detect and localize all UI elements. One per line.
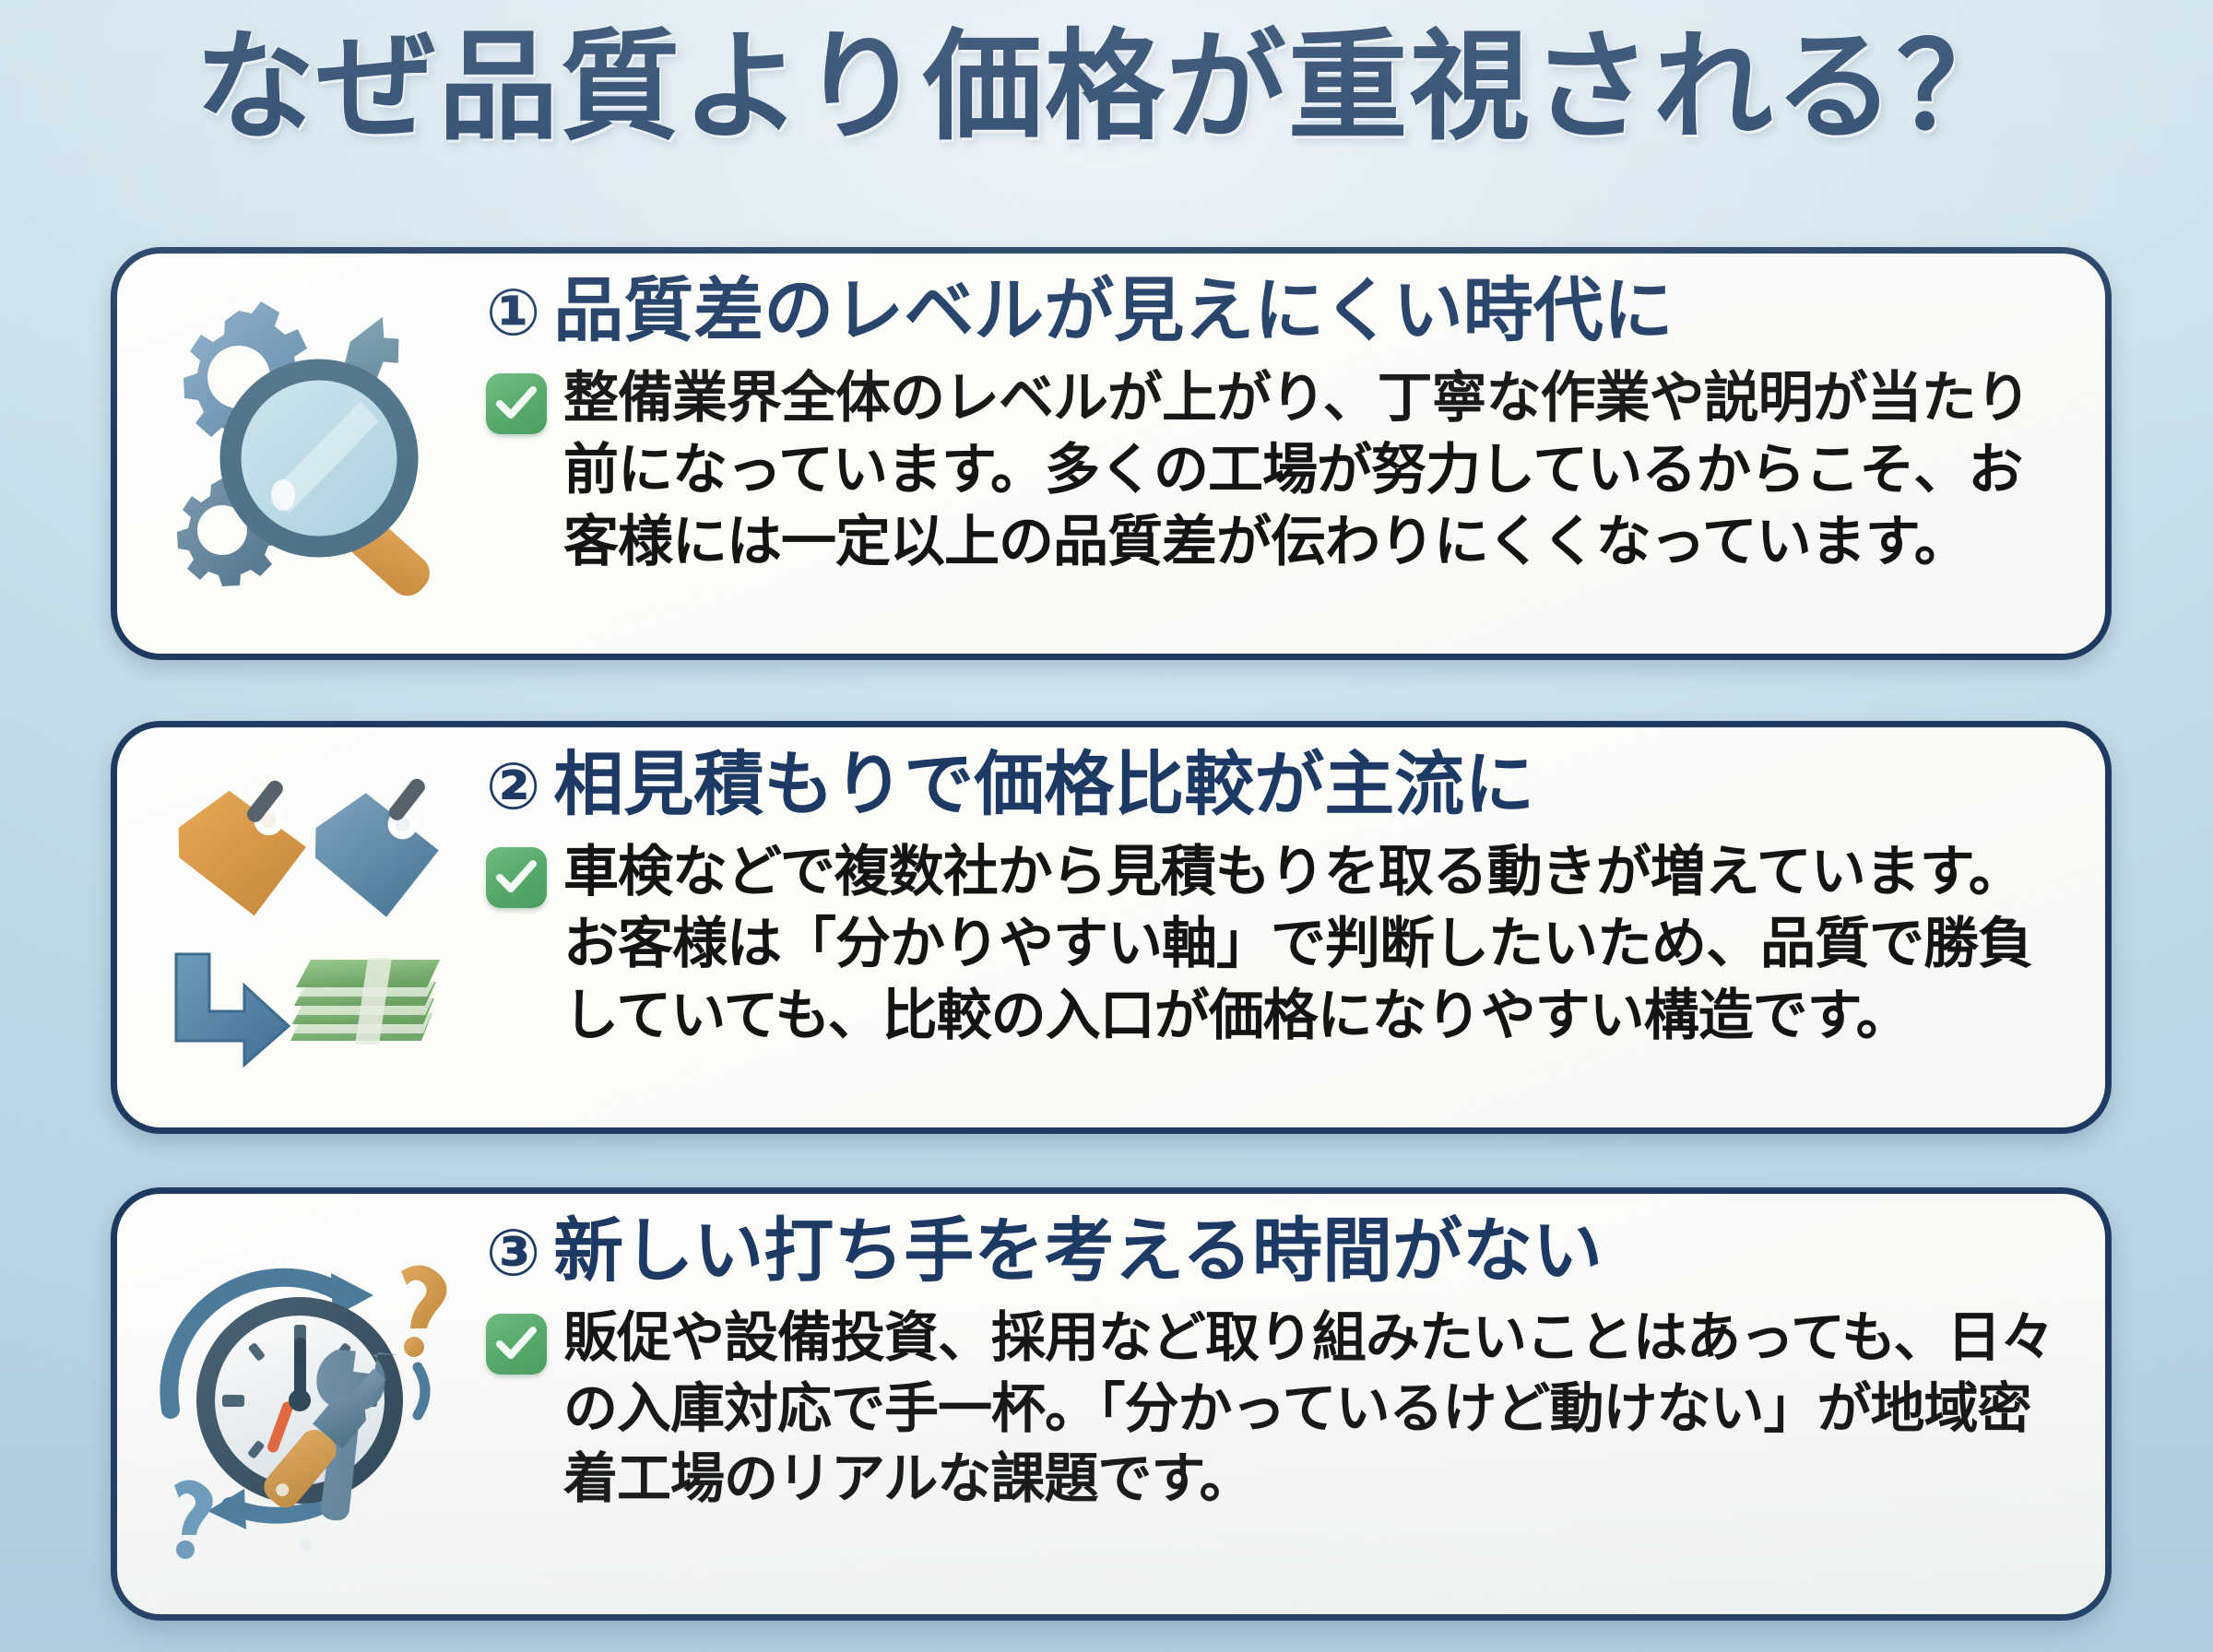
card-1-number: ① xyxy=(486,278,540,348)
reason-card-3: ③ 新しい打ち手を考える時間がない 販促や設備投資、採用など取り組みたいことはあ… xyxy=(111,1187,2112,1621)
card-1-text-row: 整備業界全体のレベルが上がり、丁寧な作業や説明が当たり前になっています。多くの工… xyxy=(486,362,2074,578)
card-3-heading: ③ 新しい打ち手を考える時間がない xyxy=(486,1214,2074,1290)
card-1-heading: ① 品質差のレベルが見えにくい時代に xyxy=(486,274,2074,349)
card-3-text-row: 販促や設備投資、採用など取り組みたいことはあっても、日々の入庫対応で手一杯。「分… xyxy=(486,1303,2074,1515)
card-1-heading-text: 品質差のレベルが見えにくい時代に xyxy=(553,274,1673,349)
clock-question-tools-icon xyxy=(141,1229,473,1561)
check-icon xyxy=(486,373,547,434)
infographic-slide: なぜ品質より価格が重視される？ xyxy=(0,0,2213,1652)
check-icon xyxy=(486,1314,547,1375)
card-2-text: 車検などで複数社から見積もりを取る動きが増えています。お客様は「分かりやすい軸」… xyxy=(563,836,2074,1052)
price-tags-cash-icon xyxy=(148,764,462,1078)
card-1-icon-area xyxy=(117,254,486,654)
reason-card-2: ② 相見積もりで価格比較が主流に 車検などで複数社から見積もりを取る動きが増えて… xyxy=(111,721,2112,1134)
check-glyph xyxy=(496,858,537,897)
card-2-text-row: 車検などで複数社から見積もりを取る動きが増えています。お客様は「分かりやすい軸」… xyxy=(486,836,2074,1052)
card-1-body: ① 品質差のレベルが見えにくい時代に 整備業界全体のレベルが上がり、丁寧な作業や… xyxy=(486,254,2105,578)
check-glyph xyxy=(496,384,537,423)
check-icon xyxy=(486,847,547,908)
card-3-heading-text: 新しい打ち手を考える時間がない xyxy=(553,1214,1603,1290)
reason-card-1: ① 品質差のレベルが見えにくい時代に 整備業界全体のレベルが上がり、丁寧な作業や… xyxy=(111,247,2112,660)
card-2-icon-area xyxy=(117,727,486,1127)
card-3-body: ③ 新しい打ち手を考える時間がない 販促や設備投資、採用など取り組みたいことはあ… xyxy=(486,1194,2105,1515)
card-2-body: ② 相見積もりで価格比較が主流に 車検などで複数社から見積もりを取る動きが増えて… xyxy=(486,727,2105,1052)
card-2-number: ② xyxy=(486,752,540,822)
card-2-heading: ② 相見積もりで価格比較が主流に xyxy=(486,748,2074,823)
title-container: なぜ品質より価格が重視される？ xyxy=(0,22,2213,151)
check-glyph xyxy=(496,1325,537,1363)
card-1-text: 整備業界全体のレベルが上がり、丁寧な作業や説明が当たり前になっています。多くの工… xyxy=(563,362,2074,578)
gears-magnifier-wrench-icon xyxy=(148,292,462,606)
card-3-number: ③ xyxy=(486,1219,540,1289)
page-title: なぜ品質より価格が重視される？ xyxy=(195,22,2018,151)
card-3-icon-area xyxy=(117,1194,486,1614)
card-2-heading-text: 相見積もりで価格比較が主流に xyxy=(553,748,1534,823)
card-3-text: 販促や設備投資、採用など取り組みたいことはあっても、日々の入庫対応で手一杯。「分… xyxy=(563,1303,2074,1515)
